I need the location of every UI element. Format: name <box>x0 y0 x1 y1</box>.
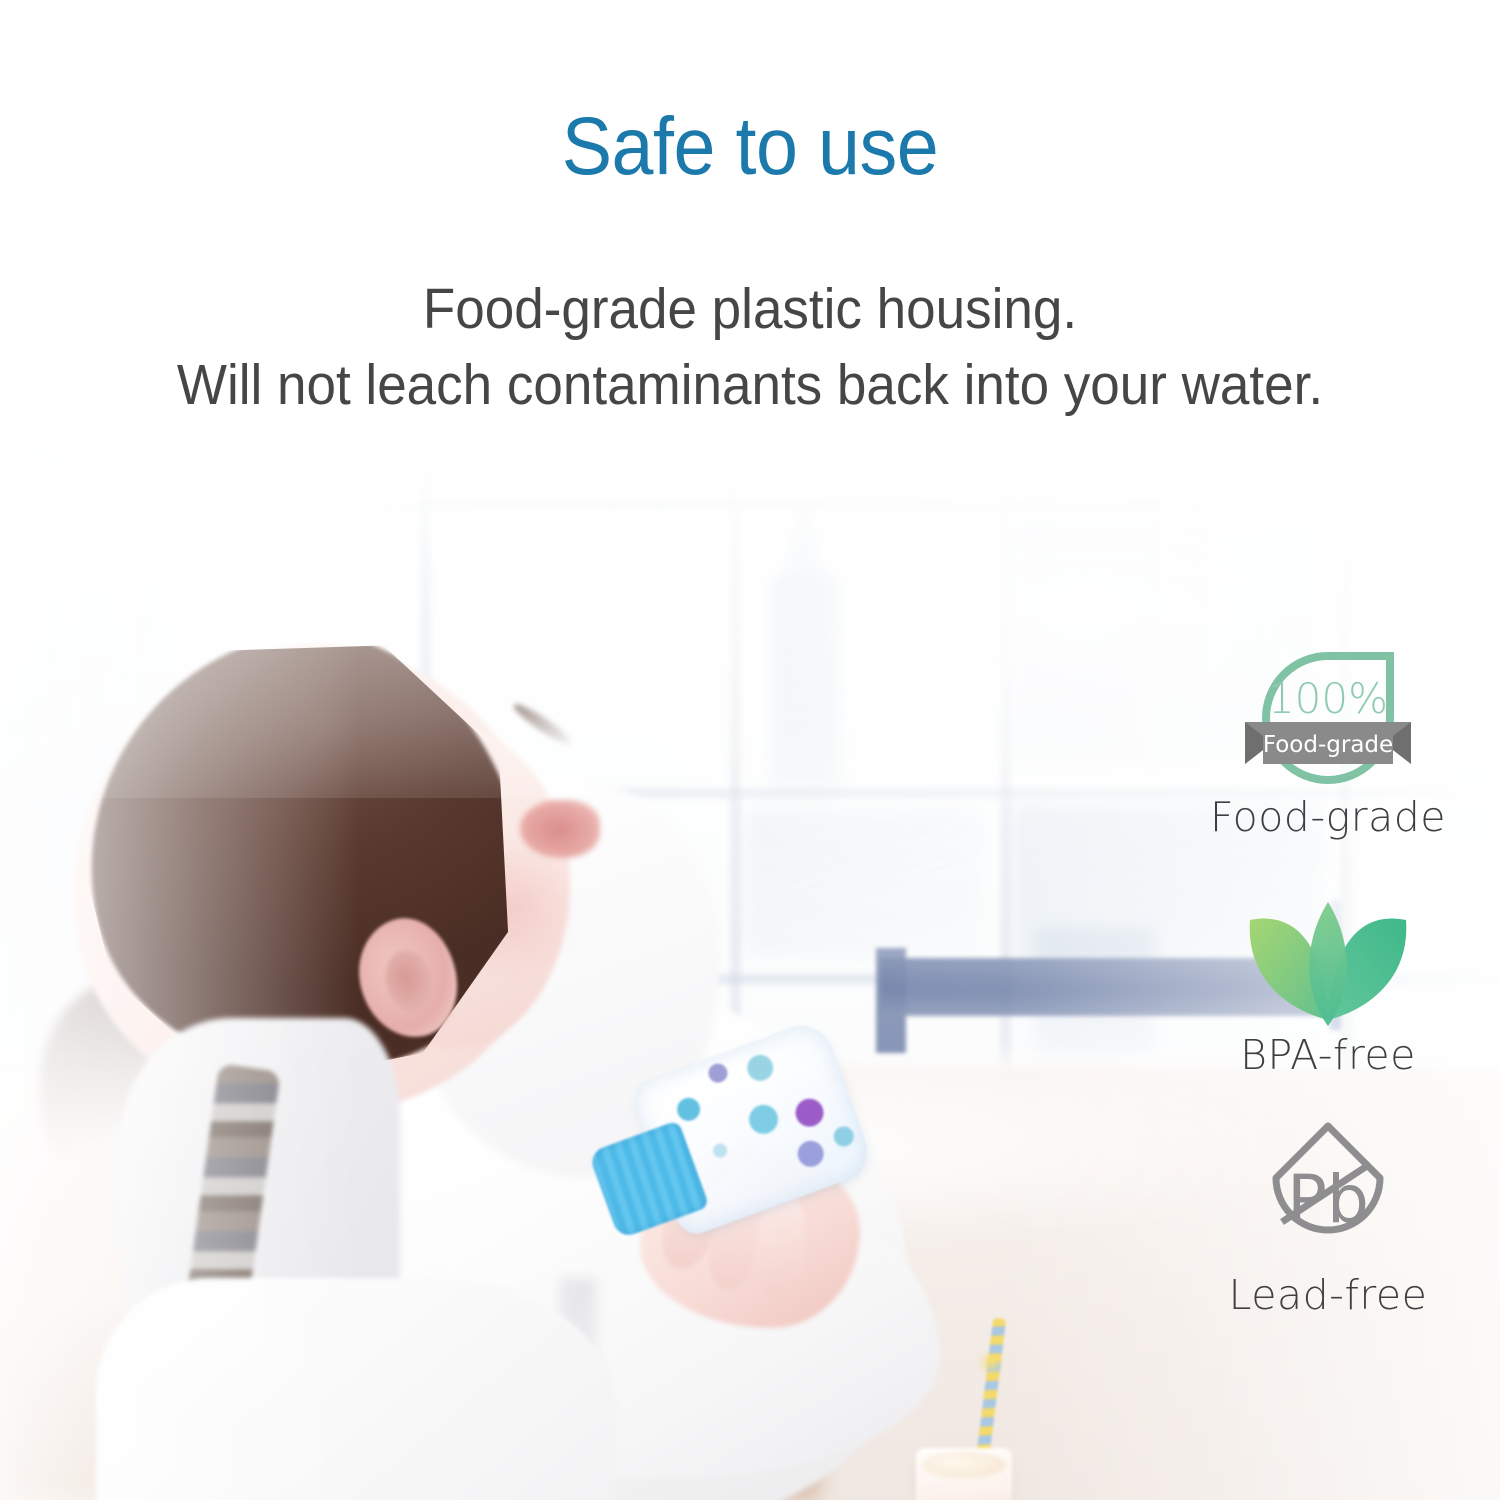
page-title: Safe to use <box>60 106 1440 188</box>
seal-ribbon-text: Food-grade <box>1263 732 1393 758</box>
snack-cup-contents <box>922 1452 1006 1478</box>
subtitle-line-1: Food-grade plastic housing. <box>53 272 1448 348</box>
badge-food-grade: 100% Food-grade Food-grade <box>1178 640 1478 838</box>
food-grade-seal-icon: 100% Food-grade <box>1178 640 1478 795</box>
high-chair-frame <box>96 1278 616 1500</box>
baby-mouth <box>520 800 600 858</box>
promo-image: Safe to use Food-grade plastic housing. … <box>0 0 1500 1500</box>
badge-lead-free: Pb Lead-free <box>1178 1118 1478 1316</box>
lead-free-droplet-icon: Pb <box>1178 1118 1478 1273</box>
seal-percent-text: 100% <box>1268 674 1388 723</box>
badge-label: Lead-free <box>1178 1275 1478 1316</box>
straw-bend <box>978 1350 1004 1376</box>
subtitle: Food-grade plastic housing. Will not lea… <box>53 272 1448 424</box>
leaf-icon <box>1178 878 1478 1033</box>
badge-bpa-free: BPA-free <box>1178 878 1478 1076</box>
badge-label: BPA-free <box>1178 1035 1478 1076</box>
subtitle-line-2: Will not leach contaminants back into yo… <box>53 348 1448 424</box>
badge-label: Food-grade <box>1178 797 1478 838</box>
